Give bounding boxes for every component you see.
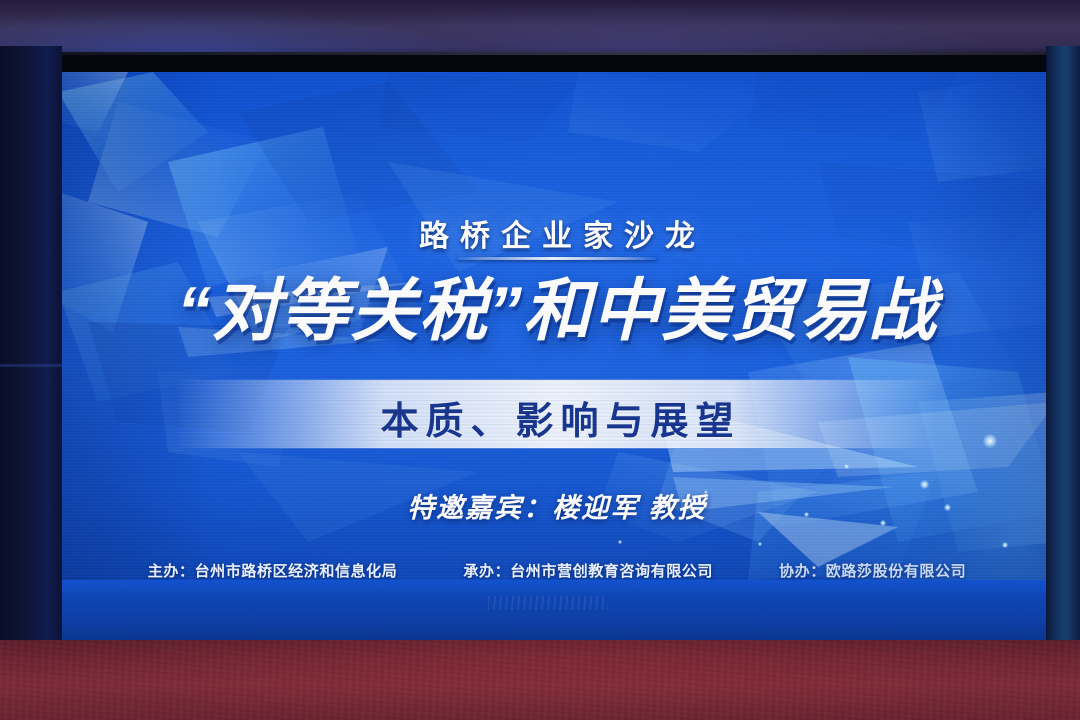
stage-scene: 路桥企业家沙龙 “对等关税”和中美贸易战 本质、影响与展望 特邀嘉宾：楼迎军 教… — [0, 0, 1080, 720]
slide-subhead: 本质、影响与展望 — [58, 390, 1056, 445]
screen-base-panel — [58, 580, 1056, 642]
slide-content: 路桥企业家沙龙 “对等关税”和中美贸易战 本质、影响与展望 特邀嘉宾：楼迎军 教… — [58, 72, 1056, 580]
red-carpet-floor — [0, 640, 1080, 720]
slide-eyebrow: 路桥企业家沙龙 — [58, 211, 1056, 255]
organizer-coordinator: 承办：台州市营创教育咨询有限公司 — [463, 560, 713, 580]
organizer-host: 主办：台州市路桥区经济和信息化局 — [148, 560, 398, 580]
slide-headline: “对等关税”和中美贸易战 — [58, 275, 1056, 347]
title-divider-line — [457, 257, 657, 260]
right-side-wall — [1046, 46, 1080, 658]
carpet-texture — [0, 640, 1080, 720]
organizer-cosponsor: 协办：欧路莎股份有限公司 — [779, 560, 966, 580]
subhead-band-top-rule — [178, 379, 938, 380]
slide-guest-speaker: 特邀嘉宾：楼迎军 教授 — [58, 486, 1056, 525]
subhead-band-bottom-rule — [178, 448, 938, 449]
bezel-highlight — [50, 52, 1056, 55]
left-side-wall — [0, 46, 62, 646]
led-screen: 路桥企业家沙龙 “对等关税”和中美贸易战 本质、影响与展望 特邀嘉宾：楼迎军 教… — [58, 72, 1056, 580]
organizer-list: 主办：台州市路桥区经济和信息化局 承办：台州市营创教育咨询有限公司 协办：欧路莎… — [58, 560, 1056, 580]
back-wall — [0, 0, 1080, 60]
